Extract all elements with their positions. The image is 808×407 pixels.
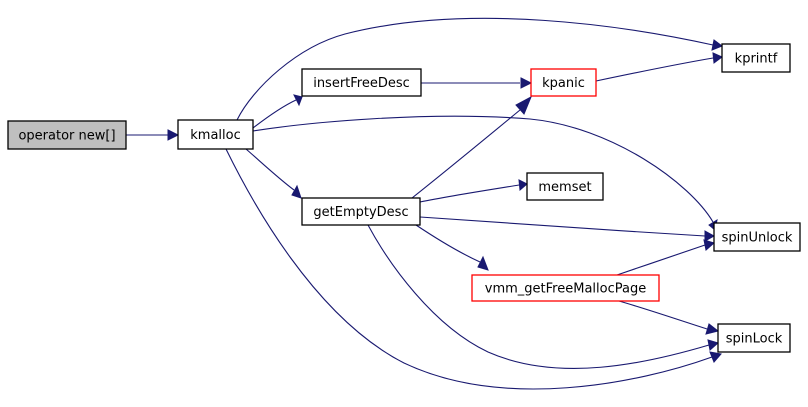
- node-label: kmalloc: [190, 128, 240, 143]
- edge-getemptydesc-to-memset: [420, 180, 527, 202]
- edge-getemptydesc-to-kpanic: [412, 97, 531, 198]
- call-graph-diagram: operator new[]kmallocinsertFreeDesckpani…: [0, 0, 808, 407]
- node-label: spinUnlock: [722, 231, 793, 246]
- edge-vmm-getfreemallocpage-to-spinlock: [619, 301, 718, 334]
- arrowhead-icon: [521, 78, 531, 88]
- edge-kmalloc-to-getemptydesc: [246, 149, 301, 198]
- edge-kmalloc-to-spinlock: [226, 149, 721, 389]
- arrowhead-icon: [478, 257, 488, 270]
- node-label: kpanic: [542, 76, 585, 91]
- edge-line: [416, 225, 480, 262]
- arrowhead-icon: [292, 186, 301, 198]
- call-graph-canvas: operator new[]kmallocinsertFreeDesckpani…: [0, 0, 808, 407]
- node-label: vmm_getFreeMallocPage: [485, 282, 646, 297]
- edge-insertfreedesc-to-kpanic: [421, 78, 531, 88]
- edge-getemptydesc-to-spinunlock: [420, 217, 714, 241]
- edge-line: [420, 185, 519, 202]
- node-insertfreedesc[interactable]: insertFreeDesc: [302, 69, 421, 96]
- arrowhead-icon: [706, 324, 718, 334]
- edges-layer: [126, 18, 722, 389]
- node-label: insertFreeDesc: [313, 76, 410, 91]
- edge-line: [253, 100, 296, 128]
- node-spinlock[interactable]: spinLock: [718, 324, 790, 352]
- node-getemptydesc[interactable]: getEmptyDesc: [302, 198, 420, 225]
- node-spinunlock[interactable]: spinUnlock: [714, 223, 800, 251]
- node-label: getEmptyDesc: [313, 205, 408, 220]
- edge-line: [226, 149, 712, 389]
- edge-getemptydesc-to-vmm-getfreemallocpage: [416, 225, 488, 270]
- edge-line: [617, 245, 705, 275]
- node-kprintf[interactable]: kprintf: [722, 44, 790, 72]
- edge-line: [246, 149, 294, 190]
- edge-vmm-getfreemallocpage-to-spinunlock: [617, 240, 714, 275]
- arrowhead-icon: [713, 53, 722, 63]
- arrowhead-icon: [710, 352, 721, 362]
- edge-line: [420, 217, 705, 236]
- arrowhead-icon: [704, 240, 714, 250]
- edge-line: [412, 110, 520, 198]
- arrowhead-icon: [168, 130, 178, 140]
- node-kmalloc[interactable]: kmalloc: [178, 120, 253, 149]
- node-label: kprintf: [735, 52, 778, 67]
- edge-line: [596, 58, 713, 81]
- edge-operator-new-array-to-kmalloc: [126, 130, 178, 140]
- node-operator-new-array[interactable]: operator new[]: [8, 121, 126, 149]
- node-memset[interactable]: memset: [527, 173, 603, 200]
- nodes-layer: operator new[]kmallocinsertFreeDesckpani…: [8, 44, 800, 352]
- arrowhead-icon: [519, 180, 527, 190]
- arrowhead-icon: [705, 231, 714, 241]
- arrowhead-icon: [712, 40, 722, 50]
- node-label: operator new[]: [18, 129, 115, 144]
- edge-line: [619, 301, 707, 329]
- node-label: spinLock: [726, 332, 783, 347]
- arrowhead-icon: [708, 340, 718, 350]
- node-vmm-getfreemallocpage[interactable]: vmm_getFreeMallocPage: [472, 275, 659, 301]
- edge-kpanic-to-kprintf: [596, 53, 722, 81]
- node-kpanic[interactable]: kpanic: [531, 69, 596, 96]
- node-label: memset: [538, 180, 591, 195]
- edge-kmalloc-to-insertfreedesc: [253, 95, 302, 128]
